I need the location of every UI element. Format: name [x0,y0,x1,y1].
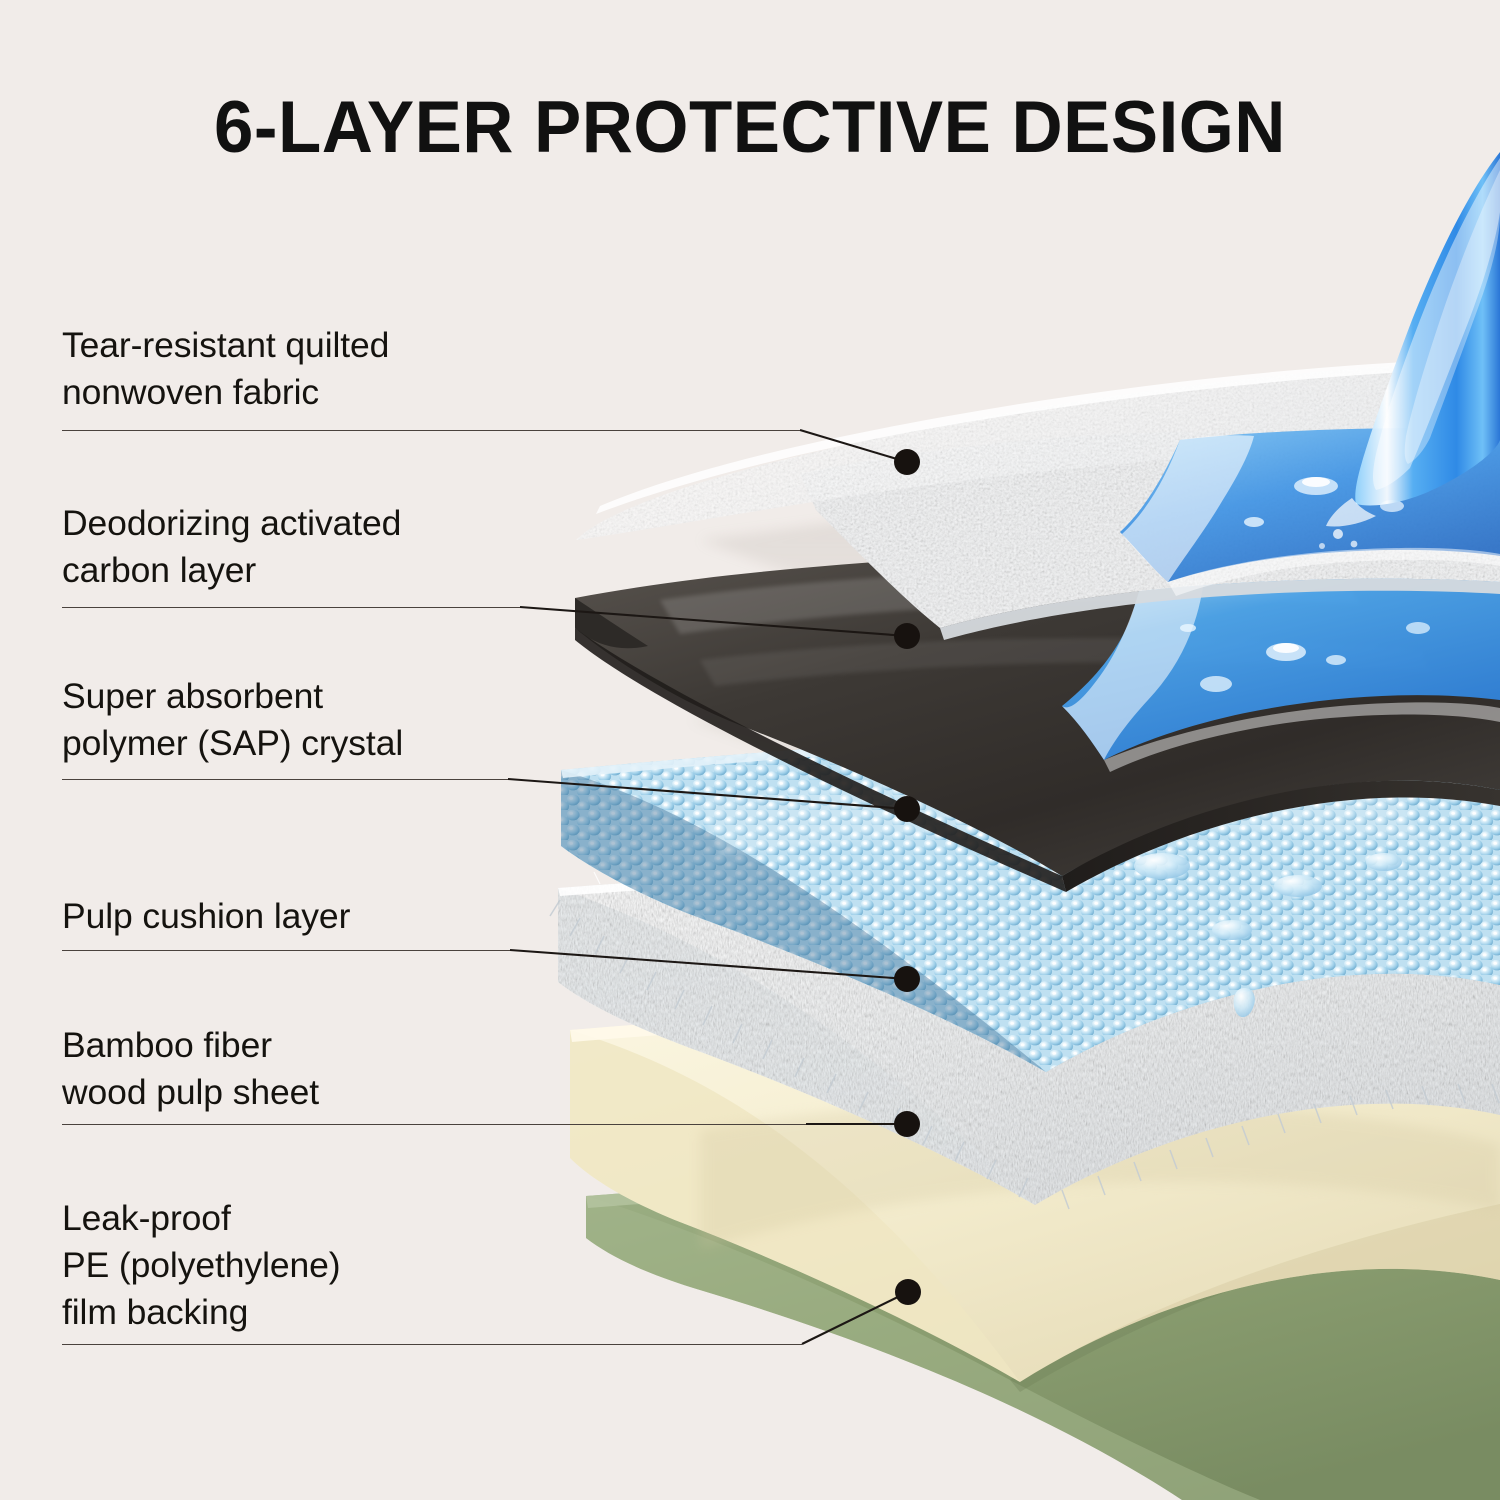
callout-label-5: Bamboo fiber wood pulp sheet [62,1022,319,1116]
callout-label-2: Deodorizing activated carbon layer [62,500,401,594]
callout-layer-2: Deodorizing activated carbon layer [62,500,401,594]
callout-rule-2 [62,607,520,608]
callout-layer-4: Pulp cushion layer [62,893,350,940]
callout-rule-6 [62,1344,802,1345]
callout-layer-6: Leak-proof PE (polyethylene) film backin… [62,1195,341,1336]
callout-rule-1 [62,430,800,431]
infographic-canvas: 6-LAYER PROTECTIVE DESIGN [0,0,1500,1500]
callout-label-6: Leak-proof PE (polyethylene) film backin… [62,1195,341,1336]
callout-label-1: Tear-resistant quilted nonwoven fabric [62,322,389,416]
callout-label-3: Super absorbent polymer (SAP) crystal [62,673,403,767]
callout-layer-5: Bamboo fiber wood pulp sheet [62,1022,319,1116]
callout-label-4: Pulp cushion layer [62,893,350,940]
callout-layer-1: Tear-resistant quilted nonwoven fabric [62,322,389,416]
callout-rule-3 [62,779,508,780]
callout-rule-5 [62,1124,806,1125]
callout-rule-4 [62,950,510,951]
callout-layer-3: Super absorbent polymer (SAP) crystal [62,673,403,767]
